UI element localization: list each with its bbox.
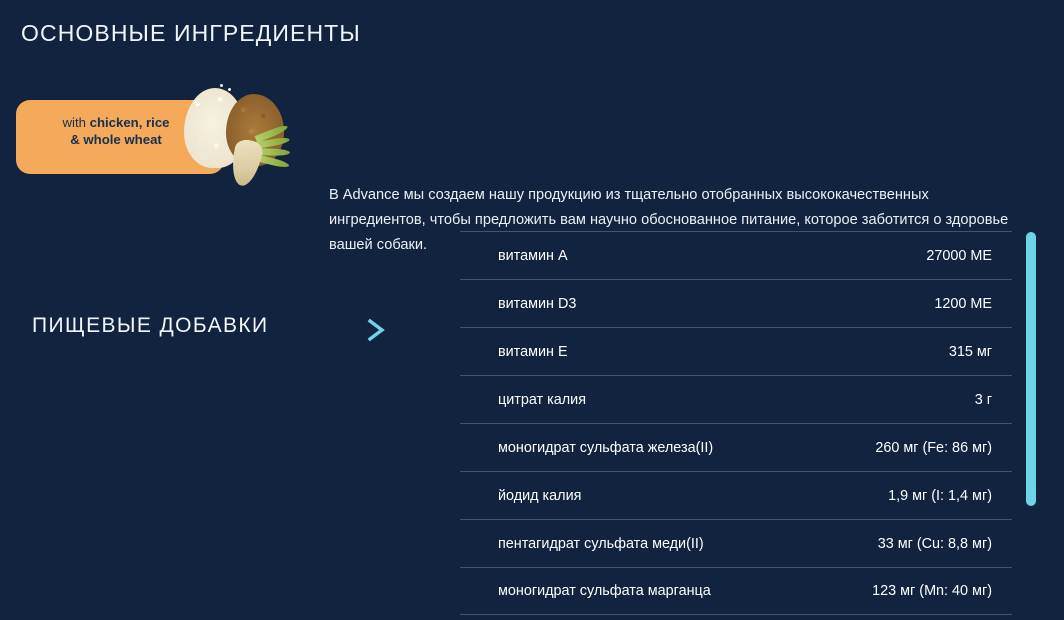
rice-speck-icon <box>220 84 223 87</box>
food-cluster-illustration <box>176 84 310 188</box>
additive-name: пентагидрат сульфата меди(II) <box>498 536 704 552</box>
badge-caption-line1-plain: with <box>62 115 89 130</box>
table-row: цитрат калия3 г <box>460 375 1012 423</box>
additive-name: цитрат калия <box>498 392 586 408</box>
page-title: ОСНОВНЫЕ ИНГРЕДИЕНТЫ <box>21 20 361 47</box>
hero-section: with chicken, rice & whole wheat В Advan… <box>0 80 1064 200</box>
additive-value: 1200 МЕ <box>934 296 1012 312</box>
additive-name: витамин D3 <box>498 296 576 312</box>
additives-table: витамин A27000 МЕвитамин D31200 МЕвитами… <box>460 231 1012 615</box>
table-row: витамин D31200 МЕ <box>460 279 1012 327</box>
additive-name: моногидрат сульфата марганца <box>498 583 711 599</box>
additive-value: 123 мг (Mn: 40 мг) <box>872 583 1012 599</box>
section-title-nutritional-additives: ПИЩЕВЫЕ ДОБАВКИ <box>32 314 269 338</box>
badge-caption-line2-bold: & whole wheat <box>70 132 162 147</box>
table-row: моногидрат сульфата марганца123 мг (Mn: … <box>460 567 1012 615</box>
chevron-right-icon[interactable] <box>362 314 390 346</box>
table-row: пентагидрат сульфата меди(II)33 мг (Cu: … <box>460 519 1012 567</box>
additive-name: йодид калия <box>498 488 581 504</box>
table-row: витамин A27000 МЕ <box>460 231 1012 279</box>
badge-caption-line1-bold: chicken, rice <box>90 115 170 130</box>
additive-name: моногидрат сульфата железа(II) <box>498 440 713 456</box>
additive-value: 260 мг (Fe: 86 мг) <box>875 440 1012 456</box>
additive-value: 1,9 мг (I: 1,4 мг) <box>888 488 1012 504</box>
additive-value: 27000 МЕ <box>926 248 1012 264</box>
additive-value: 315 мг <box>949 344 1012 360</box>
additive-name: витамин E <box>498 344 568 360</box>
additive-value: 3 г <box>975 392 1012 408</box>
table-row: витамин E315 мг <box>460 327 1012 375</box>
additive-value: 33 мг (Cu: 8,8 мг) <box>878 536 1012 552</box>
table-row: йодид калия1,9 мг (I: 1,4 мг) <box>460 471 1012 519</box>
nutritional-additives-section-header[interactable]: ПИЩЕВЫЕ ДОБАВКИ <box>0 310 440 352</box>
additive-name: витамин A <box>498 248 568 264</box>
vertical-scrollbar-thumb[interactable] <box>1026 232 1036 506</box>
table-row: моногидрат сульфата железа(II)260 мг (Fe… <box>460 423 1012 471</box>
ingredients-badge-image: with chicken, rice & whole wheat <box>16 88 308 188</box>
rice-speck-icon <box>228 88 231 91</box>
